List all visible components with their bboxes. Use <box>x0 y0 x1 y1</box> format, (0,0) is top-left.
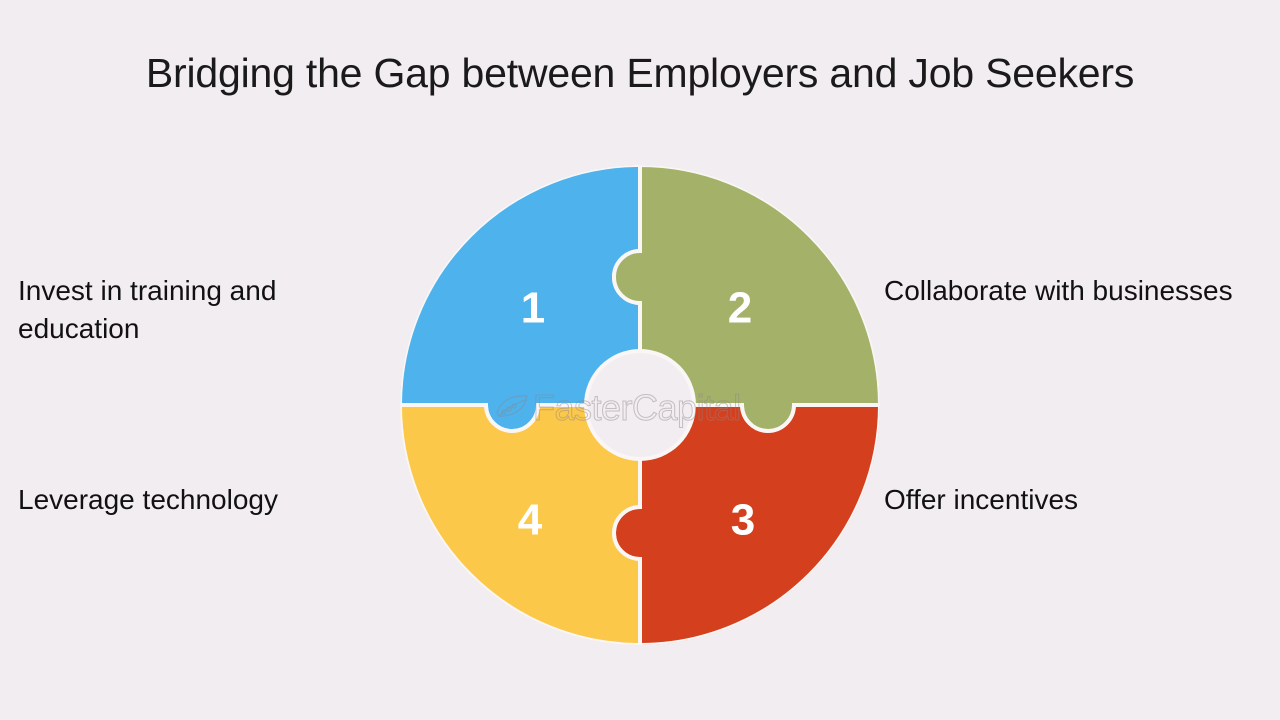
callout-label-1: Invest in training and education <box>18 272 388 348</box>
callout-label-2: Collaborate with businesses <box>884 272 1264 310</box>
piece-number-2: 2 <box>728 284 752 333</box>
puzzle-svg: 1 2 3 4 <box>400 165 880 645</box>
piece-number-3: 3 <box>731 496 755 545</box>
slide-canvas: Bridging the Gap between Employers and J… <box>0 0 1280 720</box>
page-title: Bridging the Gap between Employers and J… <box>0 47 1280 99</box>
piece-number-4: 4 <box>518 496 543 545</box>
center-hub <box>588 353 692 457</box>
callout-label-4: Leverage technology <box>18 481 388 519</box>
callout-label-3: Offer incentives <box>884 481 1264 519</box>
circular-jigsaw-diagram: 1 2 3 4 <box>400 165 880 645</box>
piece-number-1: 1 <box>521 284 545 333</box>
